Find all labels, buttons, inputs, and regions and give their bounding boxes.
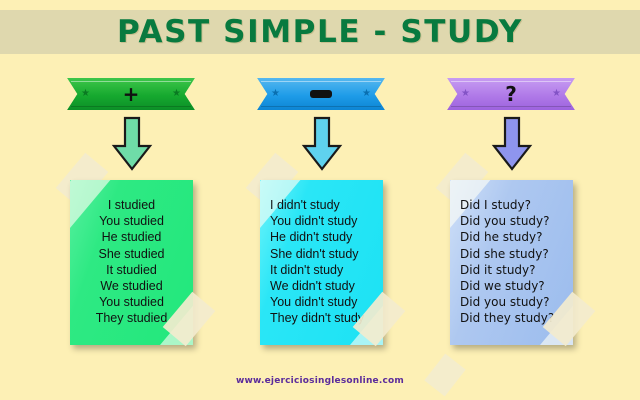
list-item: Did they study?	[460, 310, 554, 326]
column-interrogative: ★ ? ★ Did I study? Did you study? Did he…	[411, 0, 611, 400]
list-item: Did you study?	[460, 213, 550, 229]
star-icon: ★	[271, 89, 280, 99]
star-icon: ★	[461, 89, 470, 99]
arrow-down-icon-interrogative	[491, 116, 533, 177]
star-icon: ★	[552, 89, 561, 99]
list-item: Did it study?	[460, 262, 536, 278]
list-item: It didn't study	[270, 262, 343, 278]
list-item: Did I study?	[460, 197, 531, 213]
badge-negative: ★ ★	[257, 78, 385, 110]
badge-interrogative: ★ ? ★	[447, 78, 575, 110]
list-item: You didn't study	[270, 294, 357, 310]
list-item: We studied	[100, 278, 162, 294]
list-item: I didn't study	[270, 197, 340, 213]
list-item: He studied	[102, 229, 162, 245]
plus-icon: +	[123, 84, 140, 104]
column-affirmative: ★ + ★ I studied You studied He studied S…	[31, 0, 231, 400]
star-icon: ★	[172, 89, 181, 99]
minus-icon	[310, 90, 332, 98]
list-item: Did he study?	[460, 229, 542, 245]
list-item: It studied	[106, 262, 157, 278]
note-interrogative: Did I study? Did you study? Did he study…	[450, 180, 573, 345]
note-affirmative: I studied You studied He studied She stu…	[70, 180, 193, 345]
list-item: She studied	[98, 246, 164, 262]
question-mark-icon: ?	[505, 84, 517, 104]
list-item: I studied	[108, 197, 155, 213]
note-negative-lines: I didn't study You didn't study He didn'…	[260, 180, 383, 345]
column-negative: ★ ★ I didn't study You didn't study He d…	[221, 0, 421, 400]
list-item: They studied	[96, 310, 168, 326]
footer-url: www.ejerciciosinglesonline.com	[0, 376, 640, 386]
arrow-down-icon-affirmative	[111, 116, 153, 177]
list-item: Did we study?	[460, 278, 545, 294]
note-negative: I didn't study You didn't study He didn'…	[260, 180, 383, 345]
arrow-down-icon-negative	[301, 116, 343, 177]
star-icon: ★	[81, 89, 90, 99]
note-affirmative-lines: I studied You studied He studied She stu…	[70, 180, 193, 345]
list-item: You didn't study	[270, 213, 357, 229]
badge-affirmative: ★ + ★	[67, 78, 195, 110]
star-icon: ★	[362, 89, 371, 99]
list-item: They didn't study	[270, 310, 364, 326]
list-item: Did she study?	[460, 246, 549, 262]
list-item: You studied	[99, 213, 164, 229]
list-item: She didn't study	[270, 246, 359, 262]
list-item: We didn't study	[270, 278, 355, 294]
list-item: He didn't study	[270, 229, 352, 245]
note-interrogative-lines: Did I study? Did you study? Did he study…	[450, 180, 573, 345]
list-item: You studied	[99, 294, 164, 310]
list-item: Did you study?	[460, 294, 550, 310]
